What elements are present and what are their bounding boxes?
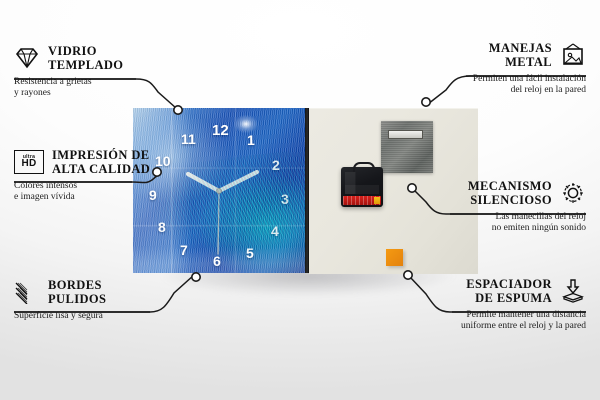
picture-frame-hanger-icon	[560, 43, 586, 67]
battery-label	[343, 196, 381, 205]
subtitle-line-1: Resistencia a grietas	[14, 77, 92, 87]
title-line-1: VIDRIO	[48, 44, 97, 58]
title-line-1: ESPACIADOR	[466, 277, 552, 291]
callout-header: ESPACIADOR DE ESPUMA	[386, 277, 586, 305]
subtitle-line-2: del reloj en la pared	[511, 85, 586, 95]
clock-numeral-8: 8	[158, 220, 166, 234]
diamond-icon	[14, 46, 40, 70]
callout-header: MANEJAS METAL	[396, 41, 586, 69]
metal-hanger-plate	[381, 121, 433, 173]
title-line-1: MANEJAS	[489, 41, 552, 55]
gear-icon	[560, 181, 586, 205]
callout-title: MANEJAS METAL	[489, 41, 552, 69]
ultra-hd-big-text: HD	[21, 159, 36, 169]
callout-subtitle: Permite mantener una distancia uniforme …	[386, 310, 586, 333]
clock-numeral-3: 3	[281, 192, 289, 206]
title-line-2: METAL	[505, 55, 552, 69]
callout-title: MECANISMO SILENCIOSO	[468, 179, 552, 207]
subtitle-line-1: Permite mantener una distancia	[467, 310, 587, 320]
title-line-2: SILENCIOSO	[470, 193, 552, 207]
title-line-1: BORDES	[48, 278, 102, 292]
callout-subtitle: Superficie lisa y segura	[14, 311, 184, 323]
hanger-grain	[381, 121, 433, 173]
subtitle-line-2: uniforme entre el reloj y la pared	[461, 321, 586, 331]
callout-header: MECANISMO SILENCIOSO	[396, 179, 586, 207]
callout-header: ultra HD IMPRESIÓN DE ALTA CALIDAD	[14, 148, 174, 176]
clock-numeral-7: 7	[180, 243, 188, 257]
callout-high-quality-print[interactable]: ultra HD IMPRESIÓN DE ALTA CALIDAD Color…	[14, 148, 174, 204]
subtitle-line-2: no emiten ningún sonido	[492, 223, 586, 233]
callout-subtitle: Resistencia a grietas y rayones	[14, 77, 174, 100]
callout-subtitle: Colores intensos e imagen vívida	[14, 181, 174, 204]
clock-numeral-4: 4	[271, 224, 279, 238]
foam-spacer	[386, 249, 403, 266]
polished-edges-icon	[14, 280, 40, 304]
subtitle-line-1: Superficie lisa y segura	[14, 311, 103, 321]
infographic-canvas: 12 1 2 3 4 5 6 7 8 9 10 11	[0, 0, 600, 400]
callout-title: BORDES PULIDOS	[48, 278, 106, 306]
callout-title: VIDRIO TEMPLADO	[48, 44, 123, 72]
subtitle-line-2: y rayones	[14, 88, 51, 98]
callout-silent-mechanism[interactable]: MECANISMO SILENCIOSO Las manecillas del …	[396, 179, 586, 235]
callout-foam-spacer[interactable]: ESPACIADOR DE ESPUMA Permite mantener un…	[386, 277, 586, 333]
title-line-2: DE ESPUMA	[475, 291, 552, 305]
subtitle-line-1: Colores intensos	[14, 181, 77, 191]
callout-header: BORDES PULIDOS	[14, 278, 184, 306]
title-line-1: IMPRESIÓN DE	[52, 148, 150, 162]
mechanism-hook	[353, 162, 375, 172]
callout-subtitle: Permiten una fácil instalación del reloj…	[396, 74, 586, 97]
battery	[343, 196, 381, 205]
foam-spacer-arrow-icon	[560, 279, 586, 303]
callout-polished-edges[interactable]: BORDES PULIDOS Superficie lisa y segura	[14, 278, 184, 322]
clock-numeral-2: 2	[272, 158, 280, 172]
subtitle-line-1: Las manecillas del reloj	[496, 212, 586, 222]
callout-metal-hangers[interactable]: MANEJAS METAL Permiten una fácil instala…	[396, 41, 586, 97]
silent-mechanism-box	[341, 167, 383, 207]
title-line-2: TEMPLADO	[48, 58, 123, 72]
title-line-2: PULIDOS	[48, 292, 106, 306]
callout-title: IMPRESIÓN DE ALTA CALIDAD	[52, 148, 150, 176]
title-line-2: ALTA CALIDAD	[52, 162, 150, 176]
callout-header: VIDRIO TEMPLADO	[14, 44, 174, 72]
ultra-hd-icon: ultra HD	[14, 150, 44, 174]
callout-subtitle: Las manecillas del reloj no emiten ningú…	[396, 212, 586, 235]
connector-endpoint-4	[422, 98, 430, 106]
callout-tempered-glass[interactable]: VIDRIO TEMPLADO Resistencia a grietas y …	[14, 44, 174, 100]
title-line-1: MECANISMO	[468, 179, 552, 193]
mechanism-detail	[345, 172, 379, 194]
subtitle-line-1: Permiten una fácil instalación	[473, 74, 586, 84]
subtitle-line-2: e imagen vívida	[14, 192, 75, 202]
callout-title: ESPACIADOR DE ESPUMA	[466, 277, 552, 305]
